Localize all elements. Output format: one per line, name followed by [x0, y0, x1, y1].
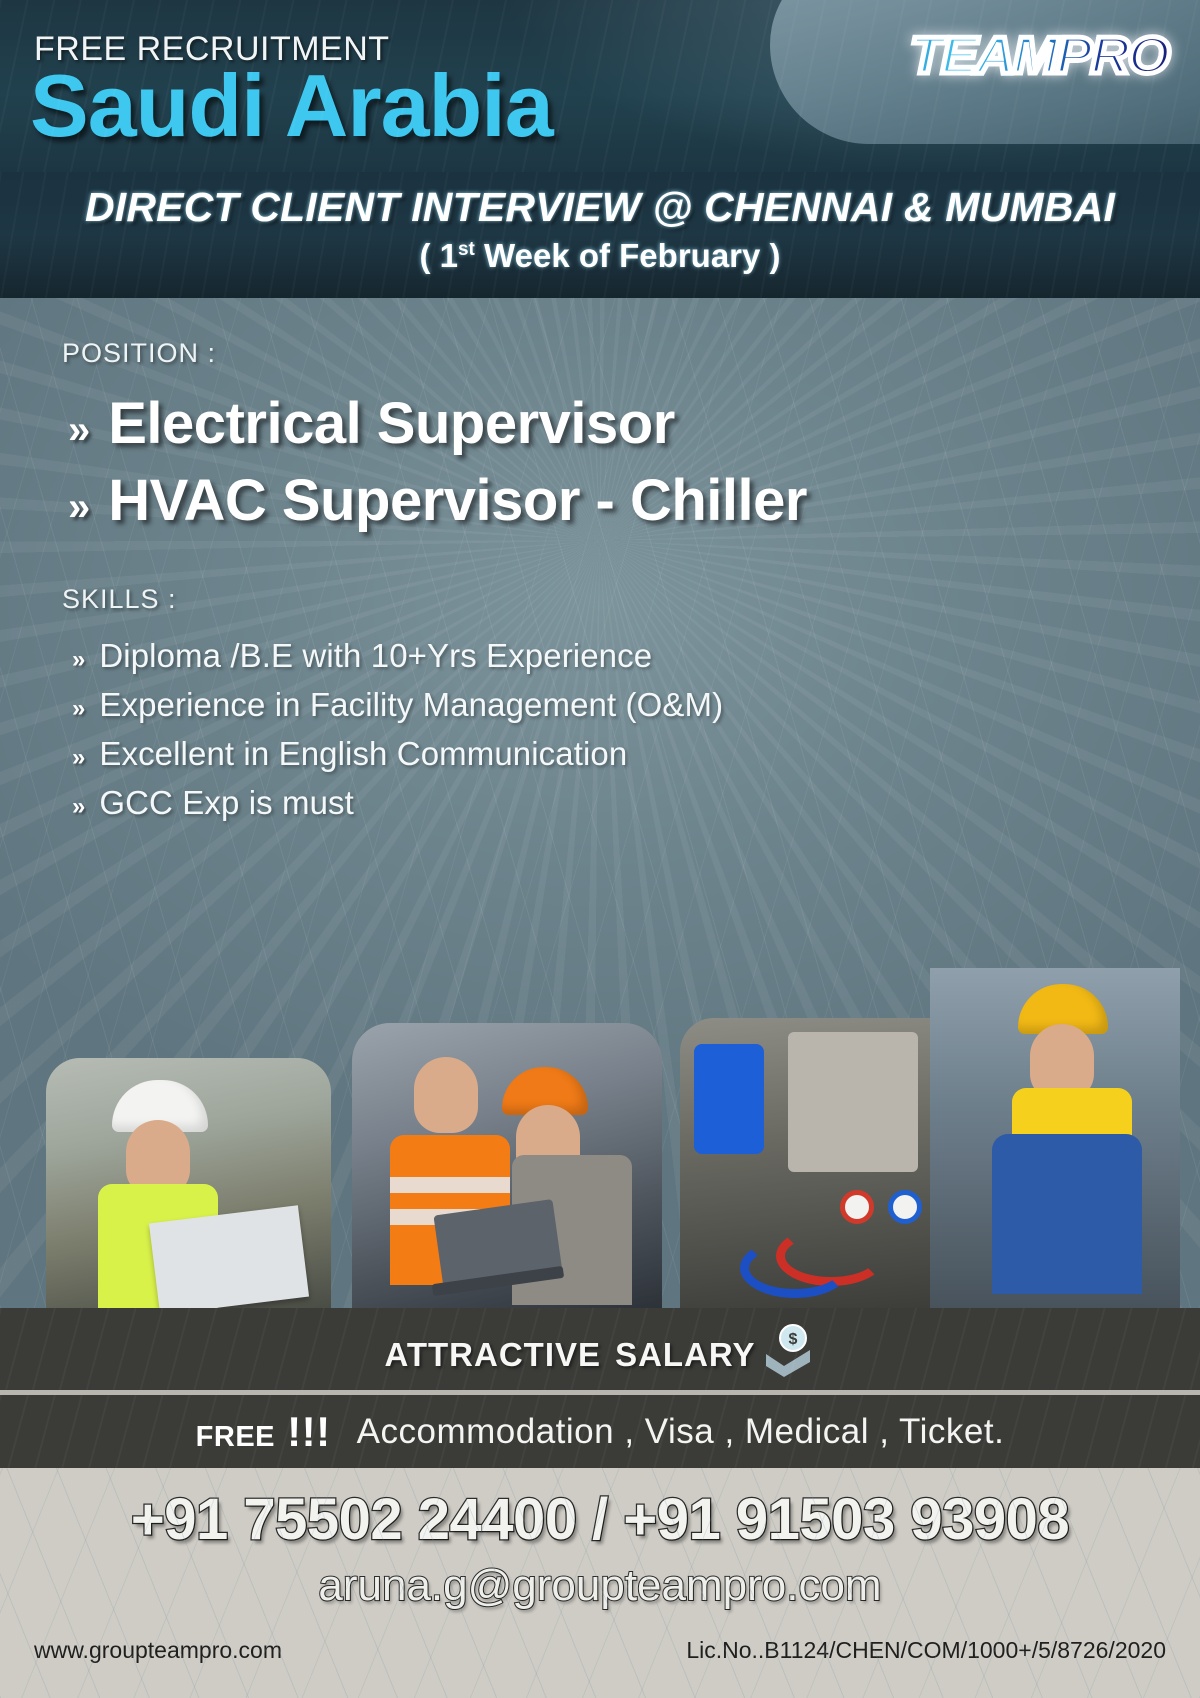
chevron-double-right-icon: » [72, 697, 85, 721]
interview-banner: DIRECT CLIENT INTERVIEW @ CHENNAI & MUMB… [0, 172, 1200, 298]
banner-subline-prefix: ( 1 [419, 237, 458, 274]
blue-equipment-shape [694, 1044, 764, 1154]
position-item: » Electrical Supervisor [68, 393, 1200, 456]
face-shape [414, 1057, 478, 1133]
photo-strip [0, 1008, 1200, 1308]
position-list: » Electrical Supervisor » HVAC Superviso… [0, 393, 1200, 532]
website-url[interactable]: www.groupteampro.com [34, 1637, 282, 1664]
phone-numbers[interactable]: +91 75502 24400 / +91 91503 93908 [0, 1468, 1200, 1553]
chevron-double-right-icon: » [72, 648, 85, 672]
skill-item: » Excellent in English Communication [72, 735, 1200, 773]
footer-row: www.groupteampro.com Lic.No..B1124/CHEN/… [0, 1611, 1200, 1664]
license-number: Lic.No..B1124/CHEN/COM/1000+/5/8726/2020 [686, 1637, 1166, 1664]
position-item: » HVAC Supervisor - Chiller [68, 470, 1200, 533]
salary-text: Attractive Salary [384, 1322, 755, 1377]
chevron-double-right-icon: » [72, 746, 85, 770]
hand-holding-coin-icon: $ [760, 1320, 816, 1378]
skill-text: Excellent in English Communication [99, 735, 627, 773]
photo-workers-laptop [352, 1023, 662, 1308]
position-title: HVAC Supervisor - Chiller [108, 470, 807, 533]
skill-item: » Experience in Facility Management (O&M… [72, 686, 1200, 724]
banner-subline-ordinal: st [458, 239, 475, 260]
benefits-list: Accommodation , Visa , Medical , Ticket. [357, 1412, 1005, 1452]
photo-engineer-blueprints [46, 1058, 331, 1308]
reflective-stripe [390, 1177, 510, 1193]
skill-text: Diploma /B.E with 10+Yrs Experience [99, 637, 652, 675]
photo-technician [930, 968, 1180, 1308]
recruitment-poster: FREE RECRUITMENT Saudi Arabia TEAMPRO DI… [0, 0, 1200, 1698]
skill-item: » GCC Exp is must [72, 784, 1200, 822]
position-label: POSITION : [62, 338, 1200, 369]
svg-text:$: $ [788, 1331, 797, 1348]
position-title: Electrical Supervisor [108, 393, 675, 456]
blue-gauge-icon [888, 1190, 922, 1224]
email-address[interactable]: aruna.g@groupteampro.com [0, 1561, 1200, 1611]
benefits-bar: Free !!! Accommodation , Visa , Medical … [0, 1390, 1200, 1468]
salary-bar: Attractive Salary $ [0, 1308, 1200, 1390]
banner-subline: ( 1st Week of February ) [0, 237, 1200, 275]
blue-hose-shape [740, 1238, 850, 1298]
skill-text: GCC Exp is must [99, 784, 354, 822]
skill-text: Experience in Facility Management (O&M) [99, 686, 723, 724]
chevron-double-right-icon: » [68, 487, 90, 527]
banner-headline: DIRECT CLIENT INTERVIEW @ CHENNAI & MUMB… [0, 172, 1200, 231]
free-label: Free !!! [196, 1408, 331, 1456]
poster-body: POSITION : » Electrical Supervisor » HVA… [0, 298, 1200, 1308]
poster-header: FREE RECRUITMENT Saudi Arabia TEAMPRO [0, 0, 1200, 172]
skills-list: » Diploma /B.E with 10+Yrs Experience » … [0, 637, 1200, 822]
red-gauge-icon [840, 1190, 874, 1224]
blueprint-shape [149, 1205, 309, 1308]
skill-item: » Diploma /B.E with 10+Yrs Experience [72, 637, 1200, 675]
blue-overalls-shape [992, 1134, 1142, 1294]
contact-section: +91 75502 24400 / +91 91503 93908 aruna.… [0, 1468, 1200, 1698]
banner-subline-suffix: Week of February ) [475, 237, 781, 274]
chiller-housing-shape [788, 1032, 918, 1172]
skills-label: SKILLS : [62, 584, 1200, 615]
chevron-double-right-icon: » [72, 795, 85, 819]
country-title: Saudi Arabia [30, 62, 553, 150]
teampro-logo: TEAMPRO [910, 30, 1168, 82]
chevron-double-right-icon: » [68, 410, 90, 450]
